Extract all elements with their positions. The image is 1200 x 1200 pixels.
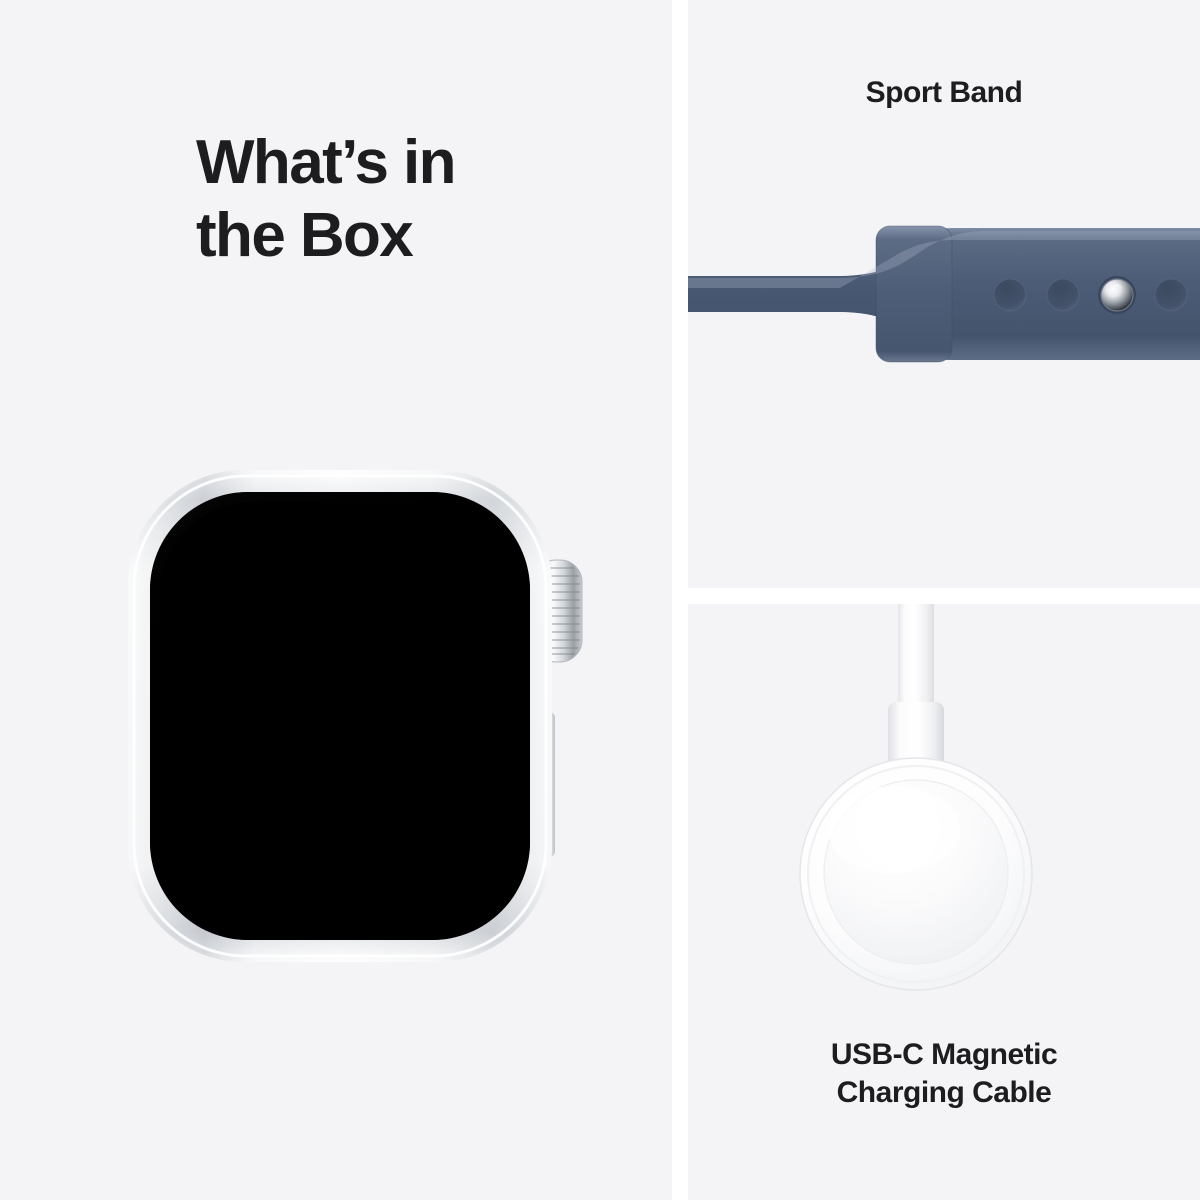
page-title-line-1: What’s in: [196, 126, 616, 199]
sport-band-caption: Sport Band: [688, 74, 1200, 112]
band-pin: [1098, 276, 1136, 314]
charging-cord: [898, 604, 934, 709]
panel-watch: What’s in the Box: [0, 0, 672, 1200]
whats-in-the-box-figure: What’s in the Box: [0, 0, 1200, 1200]
watch-display: [150, 492, 530, 940]
charging-cable-label-line-1: USB-C Magnetic: [688, 1036, 1200, 1074]
apple-watch-illustration: [104, 440, 604, 980]
page-title-line-2: the Box: [196, 199, 616, 272]
charging-cable-label-line-2: Charging Cable: [688, 1074, 1200, 1112]
magnetic-charging-puck: [800, 758, 1032, 990]
band-keeper-loop: [876, 226, 952, 362]
apple-watch-image: [104, 440, 604, 980]
charging-cable-caption: USB-C Magnetic Charging Cable: [688, 1036, 1200, 1113]
sport-band-label: Sport Band: [866, 76, 1023, 109]
page-title: What’s in the Box: [196, 126, 616, 272]
